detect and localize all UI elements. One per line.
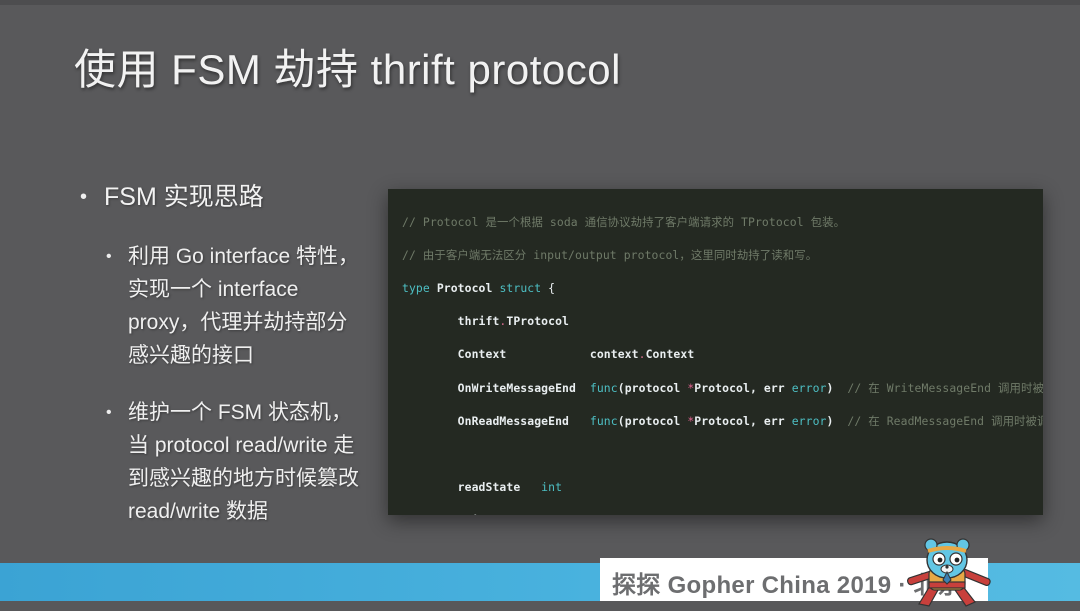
code-line: OnReadMessageEnd func(protocol *Protocol…	[402, 413, 1043, 430]
code-line: readState int	[402, 479, 1043, 496]
bullet-level1-label: FSM 实现思路	[104, 180, 264, 214]
code-line: type Protocol struct {	[402, 280, 1043, 297]
bullet-marker-icon: •	[76, 180, 104, 214]
bullet-marker-icon: •	[104, 240, 128, 273]
list-item: • 利用 Go interface 特性，实现一个 interface prox…	[104, 240, 386, 372]
list-item: • 维护一个 FSM 状态机，当 protocol read/write 走到感…	[104, 396, 386, 528]
bullet-marker-icon: •	[104, 396, 128, 429]
bullet-list: • FSM 实现思路 • 利用 Go interface 特性，实现一个 int…	[76, 180, 386, 552]
bullet-level2-label: 维护一个 FSM 状态机，当 protocol read/write 走到感兴趣…	[128, 396, 364, 528]
slide-canvas: 使用 FSM 劫持 thrift protocol • FSM 实现思路 • 利…	[0, 0, 1080, 611]
top-edge-strip	[0, 0, 1080, 5]
code-line: writeState int	[402, 512, 1043, 515]
code-block-card: // Protocol 是一个根据 soda 通信协议劫持了客户端请求的 TPr…	[388, 189, 1043, 515]
page-title: 使用 FSM 劫持 thrift protocol	[74, 36, 621, 97]
code-content: // Protocol 是一个根据 soda 通信协议劫持了客户端请求的 TPr…	[402, 197, 1043, 515]
code-line: thrift.TProtocol	[402, 313, 1043, 330]
bullet-level1: • FSM 实现思路	[76, 180, 386, 214]
code-line: // 由于客户端无法区分 input/output protocol，这里同时劫…	[402, 247, 1043, 264]
code-line	[402, 446, 1043, 463]
code-line: Context context.Context	[402, 346, 1043, 363]
gopher-mascot-icon	[905, 538, 993, 608]
bullet-level2-label: 利用 Go interface 特性，实现一个 interface proxy，…	[128, 240, 364, 372]
bullet-sublist: • 利用 Go interface 特性，实现一个 interface prox…	[104, 240, 386, 528]
code-line: OnWriteMessageEnd func(protocol *Protoco…	[402, 380, 1043, 397]
code-line: // Protocol 是一个根据 soda 通信协议劫持了客户端请求的 TPr…	[402, 214, 1043, 231]
